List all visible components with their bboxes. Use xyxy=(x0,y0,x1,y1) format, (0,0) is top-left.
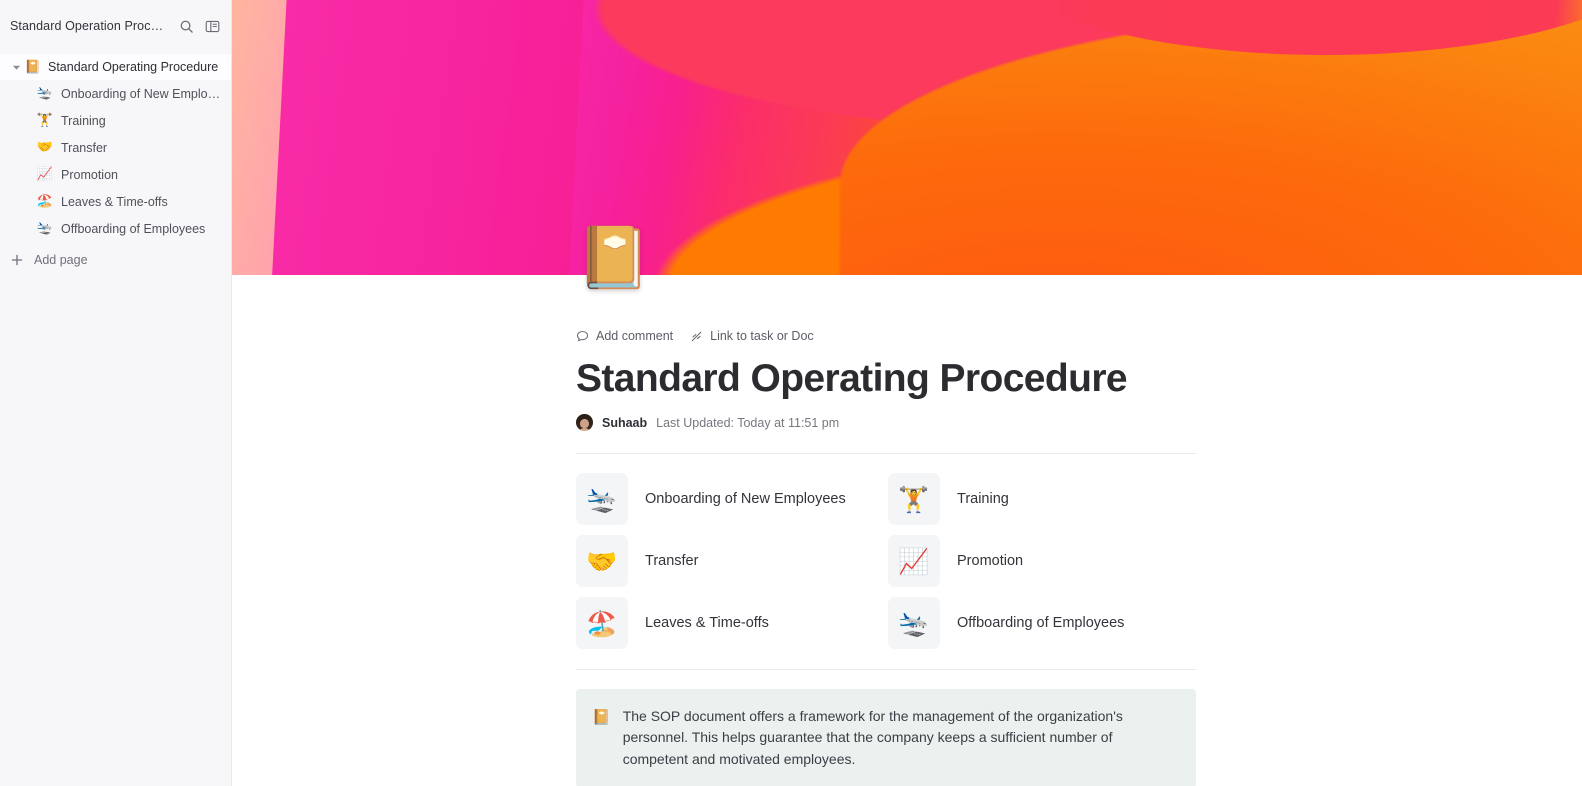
sidebar-item-label: Promotion xyxy=(61,168,118,182)
page-link-label: Leaves & Time-offs xyxy=(645,615,769,631)
sidebar-item-label: Standard Operating Procedure xyxy=(48,60,218,74)
sidebar-item-training[interactable]: 🏋️ Training xyxy=(0,107,231,134)
notebook-icon: 📔 xyxy=(592,706,611,729)
callout-text: The SOP document offers a framework for … xyxy=(623,706,1174,770)
page-link-transfer[interactable]: 🤝 Transfer xyxy=(576,535,888,587)
page-tree: 📔 Standard Operating Procedure 🛬 Onboard… xyxy=(0,52,231,274)
author-name: Suhaab xyxy=(602,416,647,430)
chart-increasing-icon: 📈 xyxy=(888,535,940,587)
beach-umbrella-icon: 🏖️ xyxy=(576,597,628,649)
page-link-label: Promotion xyxy=(957,553,1023,569)
weightlifter-icon: 🏋️ xyxy=(888,473,940,525)
sidebar-item-leaves-and-time-offs[interactable]: 🏖️ Leaves & Time-offs xyxy=(0,188,231,215)
sidebar: Standard Operation Procedures xyxy=(0,0,232,786)
page-link-label: Offboarding of Employees xyxy=(957,615,1124,631)
airplane-arriving-icon: 🛬 xyxy=(36,87,54,100)
page-link-onboarding-of-new-employees[interactable]: 🛬 Onboarding of New Employees xyxy=(576,473,888,525)
beach-umbrella-icon: 🏖️ xyxy=(36,195,54,208)
sidebar-header: Standard Operation Procedures xyxy=(0,0,231,52)
weightlifter-icon: 🏋️ xyxy=(36,114,54,127)
add-page-label: Add page xyxy=(34,253,88,267)
link-to-task-or-doc-button[interactable]: Link to task or Doc xyxy=(690,329,814,343)
doc-column: Add comment Link to task or Doc xyxy=(576,327,1196,786)
main-content: 📔 Add comment xyxy=(232,0,1582,786)
link-icon xyxy=(690,330,703,343)
page-title[interactable]: Standard Operating Procedure xyxy=(576,358,1196,400)
add-comment-button[interactable]: Add comment xyxy=(576,329,673,343)
doc-icon-notebook[interactable]: 📔 xyxy=(576,228,651,288)
divider-top xyxy=(576,453,1196,454)
page-link-training[interactable]: 🏋️ Training xyxy=(888,473,1200,525)
page-link-leaves-and-time-offs[interactable]: 🏖️ Leaves & Time-offs xyxy=(576,597,888,649)
page-link-offboarding-of-employees[interactable]: 🛬 Offboarding of Employees xyxy=(888,597,1200,649)
add-comment-label: Add comment xyxy=(596,329,673,343)
page-link-label: Training xyxy=(957,491,1009,507)
page-link-promotion[interactable]: 📈 Promotion xyxy=(888,535,1200,587)
avatar[interactable] xyxy=(576,414,593,431)
doc-action-bar: Add comment Link to task or Doc xyxy=(576,327,1196,345)
sidebar-item-offboarding-of-employees[interactable]: 🛬 Offboarding of Employees xyxy=(0,215,231,242)
sidebar-item-standard-operating-procedure[interactable]: 📔 Standard Operating Procedure xyxy=(0,54,231,80)
handshake-icon: 🤝 xyxy=(36,141,54,154)
sidebar-item-label: Leaves & Time-offs xyxy=(61,195,168,209)
sidebar-item-onboarding-of-new-employees[interactable]: 🛬 Onboarding of New Employees xyxy=(0,80,231,107)
airplane-arriving-icon: 🛬 xyxy=(36,222,54,235)
sidebar-item-label: Transfer xyxy=(61,141,107,155)
chart-increasing-icon: 📈 xyxy=(36,168,54,181)
doc-body: Add comment Link to task or Doc xyxy=(232,275,1582,786)
link-to-task-label: Link to task or Doc xyxy=(710,329,814,343)
airplane-arriving-icon: 🛬 xyxy=(888,597,940,649)
page-link-label: Onboarding of New Employees xyxy=(645,491,846,507)
cover-gradient-pink xyxy=(271,0,585,275)
add-page-button[interactable]: Add page xyxy=(0,246,231,274)
sidebar-item-label: Onboarding of New Employees xyxy=(61,87,223,101)
notebook-icon: 📔 xyxy=(24,61,42,74)
sidebar-item-label: Offboarding of Employees xyxy=(61,222,205,236)
callout-box[interactable]: 📔 The SOP document offers a framework fo… xyxy=(576,689,1196,786)
plus-icon xyxy=(8,254,26,266)
sidebar-header-icons xyxy=(178,18,221,35)
last-updated-text: Last Updated: Today at 11:51 pm xyxy=(656,416,839,430)
page-links-grid: 🛬 Onboarding of New Employees 🏋️ Trainin… xyxy=(576,473,1196,649)
avatar-face xyxy=(580,419,588,429)
app-root: Standard Operation Procedures xyxy=(0,0,1582,786)
sidebar-toggle-icon[interactable] xyxy=(204,18,221,35)
handshake-icon: 🤝 xyxy=(576,535,628,587)
sidebar-item-promotion[interactable]: 📈 Promotion xyxy=(0,161,231,188)
comment-icon xyxy=(576,330,589,343)
search-icon[interactable] xyxy=(178,18,195,35)
chevron-down-icon[interactable] xyxy=(8,63,24,72)
doc-cover-banner[interactable] xyxy=(232,0,1582,275)
page-link-label: Transfer xyxy=(645,553,698,569)
sidebar-item-label: Training xyxy=(61,114,106,128)
airplane-arriving-icon: 🛬 xyxy=(576,473,628,525)
workspace-title: Standard Operation Procedures xyxy=(10,19,169,33)
doc-meta: Suhaab Last Updated: Today at 11:51 pm xyxy=(576,414,1196,431)
sidebar-item-transfer[interactable]: 🤝 Transfer xyxy=(0,134,231,161)
divider-bottom xyxy=(576,669,1196,670)
